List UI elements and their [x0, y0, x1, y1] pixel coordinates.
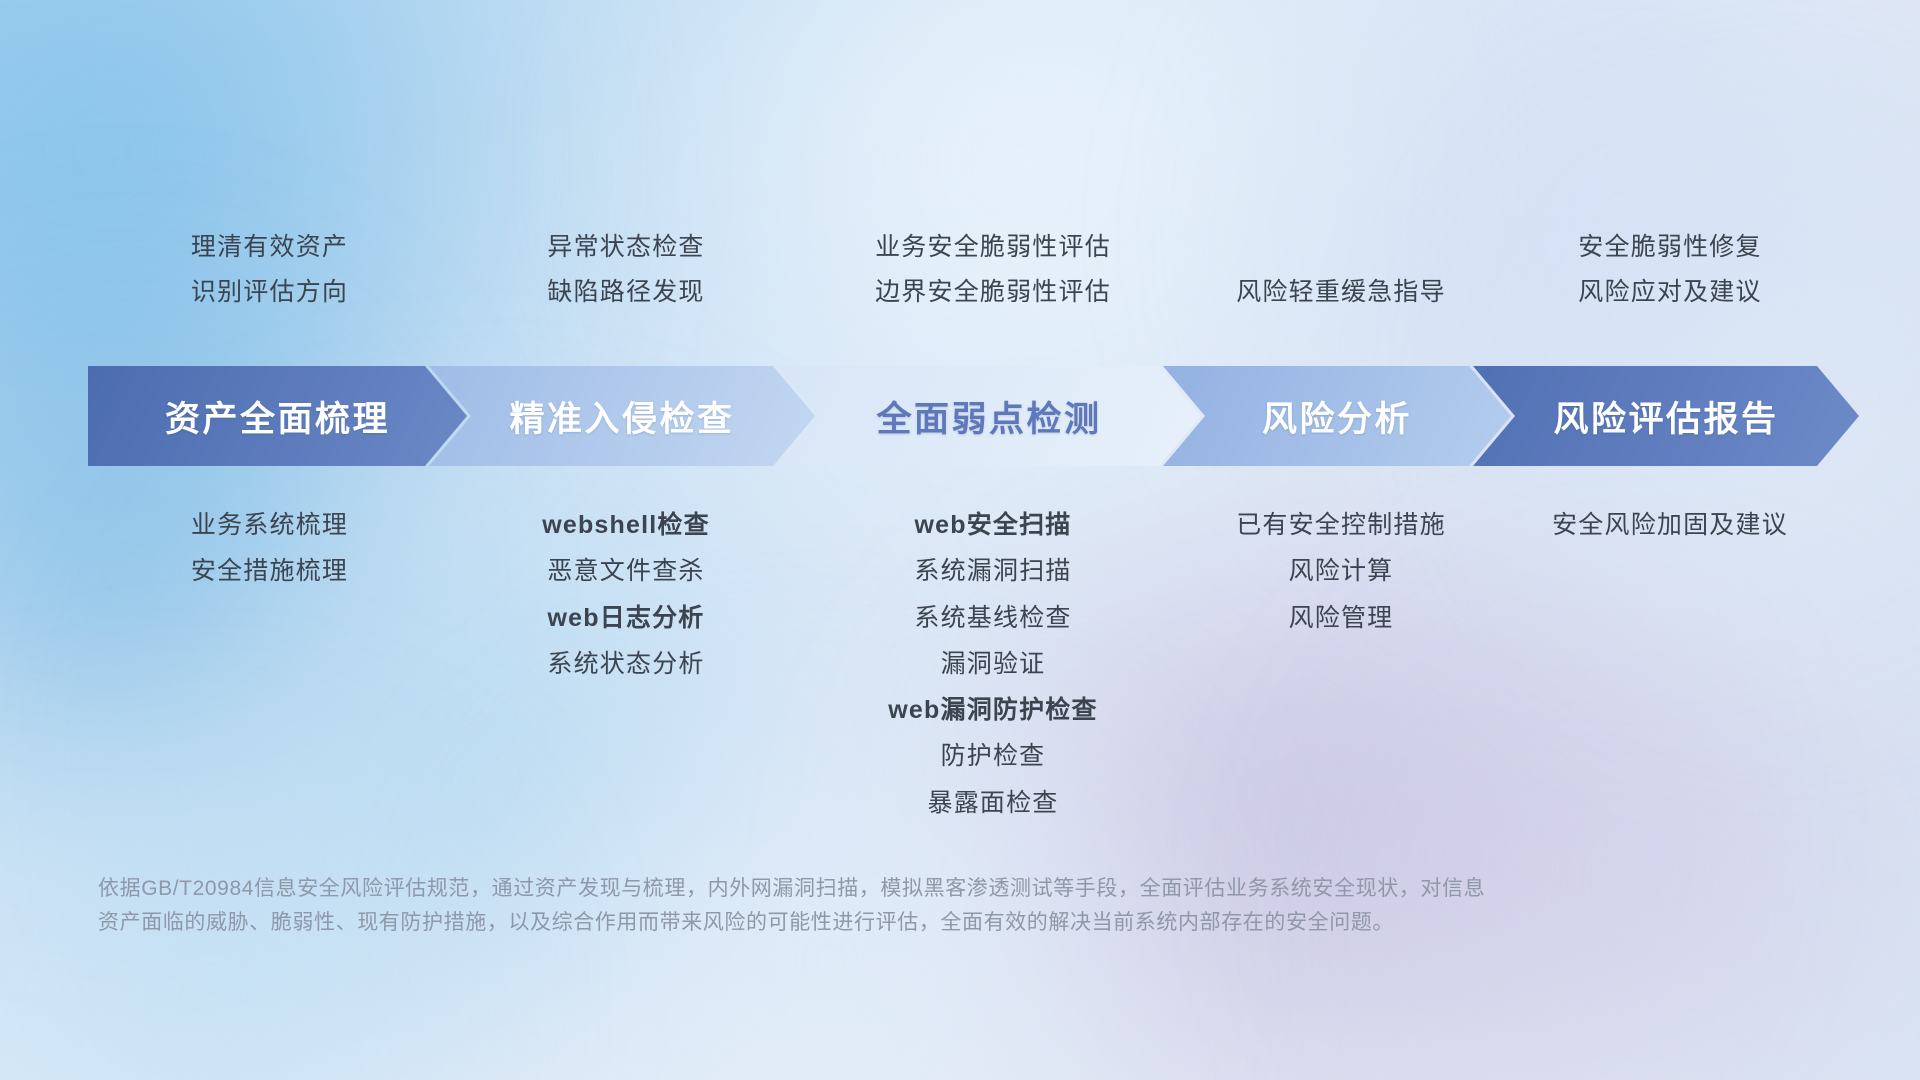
top-label-row: 理清有效资产识别评估方向异常状态检查缺陷路径发现业务安全脆弱性评估边界安全脆弱性… [96, 228, 1856, 308]
bottom-label-asset-inventory-1: 业务系统梳理 [191, 510, 348, 541]
bottom-label-intrusion-check-4: 系统状态分析 [547, 649, 704, 680]
bottom-label-column-risk-analysis: 已有安全控制措施风险计算风险管理 [1236, 510, 1446, 634]
top-label-column-weakness-detection: 业务安全脆弱性评估边界安全脆弱性评估 [875, 232, 1111, 309]
top-label-weakness-detection-2: 边界安全脆弱性评估 [875, 277, 1111, 308]
process-arrow-label-asset-inventory: 资产全面梳理 [165, 391, 390, 442]
top-label-asset-inventory-1: 理清有效资产 [191, 232, 348, 263]
process-arrow-risk-analysis[interactable]: 风险分析 [1163, 366, 1511, 466]
top-label-risk-analysis-1: 风险轻重缓急指导 [1236, 277, 1446, 308]
bottom-label-risk-analysis-3: 风险管理 [1289, 603, 1394, 634]
top-label-intrusion-check-2: 缺陷路径发现 [547, 277, 704, 308]
footer-line-1: 依据GB/T20984信息安全风险评估规范，通过资产发现与梳理，内外网漏洞扫描，… [98, 872, 1618, 906]
process-arrow-assessment-report[interactable]: 风险评估报告 [1473, 366, 1859, 466]
bottom-label-column-asset-inventory: 业务系统梳理安全措施梳理 [191, 510, 348, 588]
bottom-label-risk-analysis-2: 风险计算 [1289, 556, 1394, 587]
process-arrow-label-assessment-report: 风险评估报告 [1553, 391, 1778, 442]
top-label-assessment-report-1: 安全脆弱性修复 [1578, 232, 1761, 263]
process-arrow-intrusion-check[interactable]: 精准入侵检查 [429, 366, 815, 466]
process-arrow-label-intrusion-check: 精准入侵检查 [509, 391, 734, 442]
bottom-label-weakness-detection-4: 漏洞验证 [941, 649, 1046, 680]
process-arrow-band: 资产全面梳理精准入侵检查全面弱点检测风险分析风险评估报告 [88, 366, 1860, 466]
top-label-column-intrusion-check: 异常状态检查缺陷路径发现 [547, 232, 704, 309]
bottom-label-intrusion-check-2: 恶意文件查杀 [547, 556, 704, 587]
bottom-label-column-intrusion-check: webshell检查恶意文件查杀web日志分析系统状态分析 [542, 510, 710, 680]
bottom-label-assessment-report-1: 安全风险加固及建议 [1552, 510, 1788, 541]
process-arrow-label-risk-analysis: 风险分析 [1262, 391, 1412, 442]
bottom-label-risk-analysis-1: 已有安全控制措施 [1236, 510, 1446, 541]
bottom-label-weakness-detection-3: 系统基线检查 [914, 603, 1071, 634]
bottom-label-weakness-detection-2: 系统漏洞扫描 [914, 556, 1071, 587]
bottom-label-row: 业务系统梳理安全措施梳理webshell检查恶意文件查杀web日志分析系统状态分… [96, 510, 1856, 850]
top-label-asset-inventory-2: 识别评估方向 [191, 277, 348, 308]
bottom-label-column-weakness-detection: web安全扫描系统漏洞扫描系统基线检查漏洞验证web漏洞防护检查防护检查暴露面检… [888, 510, 1097, 819]
diagram-stage: 理清有效资产识别评估方向异常状态检查缺陷路径发现业务安全脆弱性评估边界安全脆弱性… [0, 0, 1920, 1080]
footer-line-2: 资产面临的威胁、脆弱性、现有防护措施，以及综合作用而带来风险的可能性进行评估，全… [98, 906, 1618, 940]
top-label-column-risk-analysis: 风险轻重缓急指导 [1236, 277, 1446, 308]
top-label-weakness-detection-1: 业务安全脆弱性评估 [875, 232, 1111, 263]
bottom-label-weakness-detection-6: 防护检查 [941, 741, 1046, 772]
bottom-label-weakness-detection-5: web漏洞防护检查 [888, 695, 1097, 726]
top-label-column-assessment-report: 安全脆弱性修复风险应对及建议 [1578, 232, 1761, 309]
process-arrow-label-weakness-detection: 全面弱点检测 [876, 391, 1101, 442]
bottom-label-weakness-detection-1: web安全扫描 [914, 510, 1071, 541]
bottom-label-column-assessment-report: 安全风险加固及建议 [1552, 510, 1788, 541]
process-arrow-weakness-detection[interactable]: 全面弱点检测 [777, 366, 1201, 466]
process-arrow-asset-inventory[interactable]: 资产全面梳理 [88, 366, 467, 466]
bottom-label-intrusion-check-3: web日志分析 [547, 603, 704, 634]
top-label-column-asset-inventory: 理清有效资产识别评估方向 [191, 232, 348, 309]
footer-description: 依据GB/T20984信息安全风险评估规范，通过资产发现与梳理，内外网漏洞扫描，… [98, 872, 1618, 940]
top-label-intrusion-check-1: 异常状态检查 [547, 232, 704, 263]
top-label-assessment-report-2: 风险应对及建议 [1578, 277, 1761, 308]
bottom-label-intrusion-check-1: webshell检查 [542, 510, 710, 541]
bottom-label-asset-inventory-2: 安全措施梳理 [191, 556, 348, 587]
bottom-label-weakness-detection-7: 暴露面检查 [927, 788, 1058, 819]
